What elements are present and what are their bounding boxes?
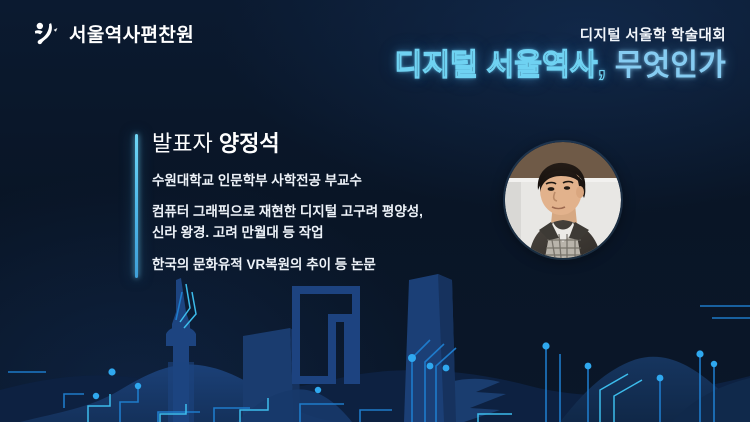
conference-title-part-1: 디지털 서울역사, [395, 49, 607, 82]
speaker-heading: 발표자 양정석 [152, 130, 492, 158]
slide-header: 서울역사편찬원 디지털 서울학 학술대회 디지털 서울역사, 무엇인가 [0, 0, 750, 100]
speaker-bio-line-1: 수원대학교 인문학부 사학전공 부교수 [152, 171, 492, 192]
institution-logo: 서울역사편찬원 [30, 18, 194, 48]
speaker-role-label: 발표자 [152, 131, 213, 156]
conference-branding: 디지털 서울학 학술대회 디지털 서울역사, 무엇인가 [395, 24, 726, 82]
conference-kicker: 디지털 서울학 학술대회 [395, 24, 726, 45]
skyline-bracket-building [296, 290, 356, 380]
presentation-slide: 서울역사편찬원 디지털 서울학 학술대회 디지털 서울역사, 무엇인가 발표자 … [0, 0, 750, 422]
speaker-portrait-image [505, 142, 621, 258]
speaker-bio-line-2: 컴퓨터 그래픽으로 재현한 디지털 고구려 평양성, 신라 왕경. 고려 만월대… [152, 202, 492, 244]
speaker-portrait [505, 142, 621, 258]
speaker-bio-line-3: 한국의 문화유적 VR복원의 추이 등 논문 [152, 255, 492, 276]
conference-title-part-2: 무엇인가 [615, 49, 726, 82]
speaker-name: 양정석 [219, 131, 280, 156]
speaker-accent-bar [135, 134, 138, 278]
conference-title: 디지털 서울역사, 무엇인가 [395, 50, 726, 82]
institution-name: 서울역사편찬원 [69, 20, 194, 47]
seoul-history-compilation-emblem [30, 18, 60, 48]
seoul-circuit-skyline [0, 262, 750, 422]
speaker-info-panel: 발표자 양정석 수원대학교 인문학부 사학전공 부교수 컴퓨터 그래픽으로 재현… [152, 130, 492, 276]
